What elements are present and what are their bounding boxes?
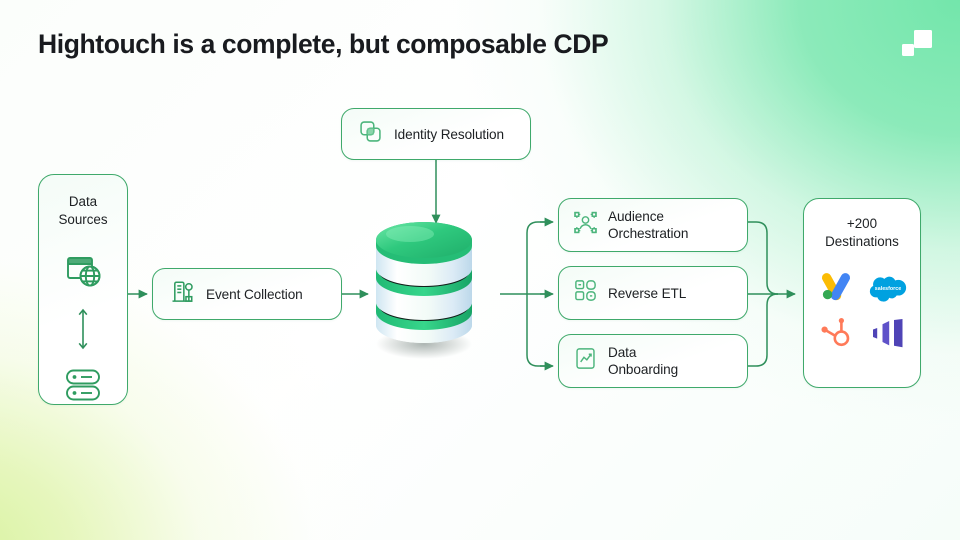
destinations-title: +200 Destinations — [825, 215, 899, 251]
identity-resolution-card[interactable]: Identity Resolution — [341, 108, 531, 160]
data-onboarding-label-line1: Data — [608, 345, 636, 360]
database-server-icon — [63, 367, 103, 408]
event-collection-card[interactable]: Event Collection — [152, 268, 342, 320]
logo-square-large — [914, 30, 932, 48]
audience-orchestration-label-line1: Audience — [608, 209, 664, 224]
data-warehouse-cylinder — [362, 216, 502, 368]
salesforce-logo-icon: salesforce — [868, 267, 908, 307]
google-ads-logo-icon — [816, 267, 856, 307]
destinations-card[interactable]: +200 Destinations salesforce — [803, 198, 921, 388]
svg-text:salesforce: salesforce — [875, 286, 901, 292]
audience-orchestration-icon — [573, 210, 598, 240]
reverse-etl-icon — [573, 278, 598, 308]
slide-canvas: Hightouch is a complete, but composable … — [0, 0, 960, 540]
web-globe-icon — [63, 251, 103, 296]
identity-resolution-label: Identity Resolution — [394, 126, 504, 143]
identity-resolution-icon — [358, 119, 383, 149]
mixpanel-logo-icon — [868, 313, 908, 353]
reverse-etl-card[interactable]: Reverse ETL — [558, 266, 748, 320]
event-collection-icon — [170, 279, 195, 309]
reverse-etl-label: Reverse ETL — [608, 285, 686, 302]
page-title: Hightouch is a complete, but composable … — [38, 29, 608, 60]
data-sources-card[interactable]: Data Sources — [38, 174, 128, 405]
data-sources-title-line2: Sources — [58, 212, 107, 227]
data-onboarding-card[interactable]: Data Onboarding — [558, 334, 748, 388]
event-collection-label: Event Collection — [206, 286, 303, 303]
destinations-count: +200 — [847, 216, 877, 231]
data-onboarding-label-line2: Onboarding — [608, 362, 678, 377]
bidirectional-arrow-icon — [76, 306, 90, 357]
audience-orchestration-card[interactable]: Audience Orchestration — [558, 198, 748, 252]
destination-logos: salesforce — [812, 265, 912, 355]
hubspot-logo-icon — [816, 313, 856, 353]
data-sources-title: Data Sources — [58, 193, 107, 229]
data-onboarding-label: Data Onboarding — [608, 344, 678, 378]
data-onboarding-icon — [573, 346, 598, 376]
logo-square-small — [902, 44, 914, 56]
data-sources-title-line1: Data — [69, 194, 97, 209]
audience-orchestration-label: Audience Orchestration — [608, 208, 688, 242]
destinations-label: Destinations — [825, 234, 899, 249]
audience-orchestration-label-line2: Orchestration — [608, 226, 688, 241]
hightouch-logo-icon — [902, 30, 932, 58]
